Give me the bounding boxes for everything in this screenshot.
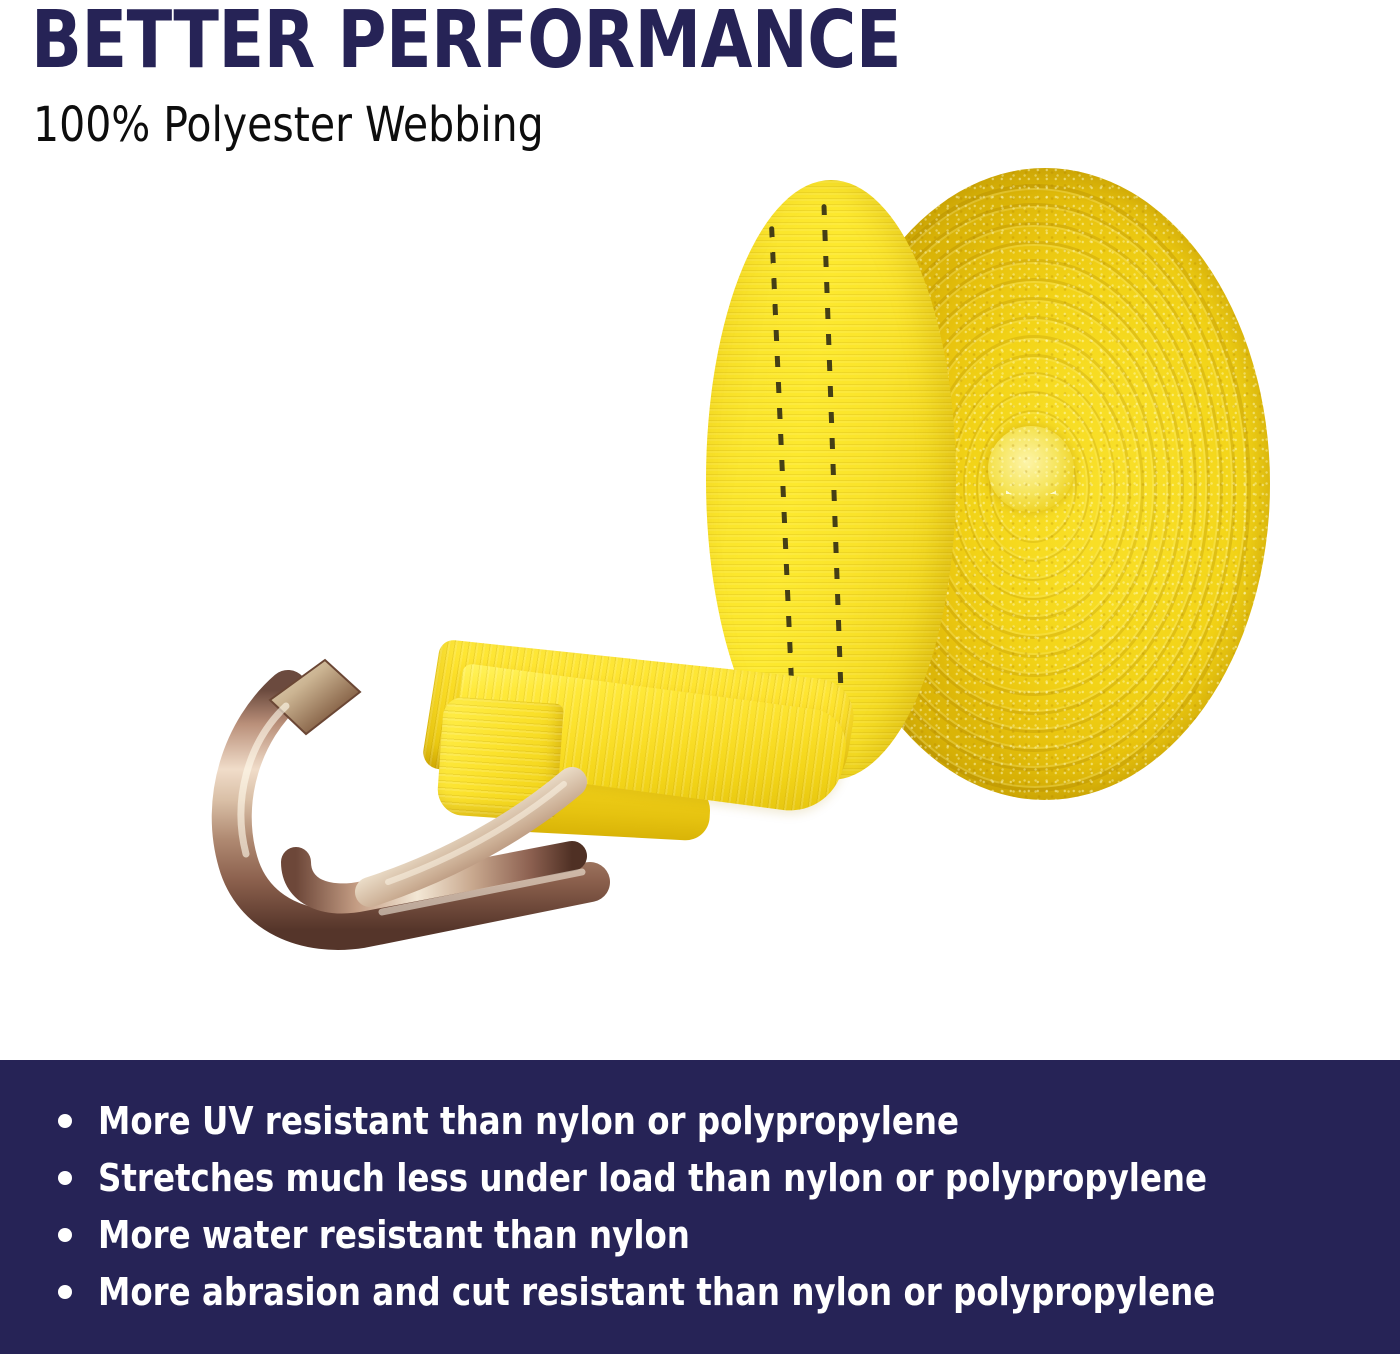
coil-ring (950, 372, 1116, 599)
bullet-dot-icon (58, 1171, 72, 1185)
wire-j-hook (120, 630, 660, 950)
coil-ring (989, 429, 1077, 543)
list-item: More abrasion and cut resistant than nyl… (58, 1269, 1274, 1315)
coil-ring (924, 335, 1145, 639)
bullet-dot-icon (58, 1285, 72, 1299)
bullet-dot-icon (58, 1114, 72, 1128)
coil-ring (937, 354, 1132, 621)
list-item: More water resistant than nylon (58, 1212, 721, 1258)
page-subtitle: 100% Polyester Webbing (33, 96, 544, 154)
list-item-label: More UV resistant than nylon or polyprop… (98, 1098, 959, 1144)
header: BETTER PERFORMANCE 100% Polyester Webbin… (0, 0, 1400, 170)
list-item-label: Stretches much less under load than nylo… (98, 1155, 1207, 1201)
roll-hub (988, 426, 1074, 512)
bullet-dot-icon (58, 1228, 72, 1242)
coil-ring (963, 391, 1103, 580)
page-title: BETTER PERFORMANCE (31, 0, 901, 82)
coil-ring (976, 410, 1090, 562)
list-item: More UV resistant than nylon or polyprop… (58, 1098, 1004, 1144)
list-item-label: More abrasion and cut resistant than nyl… (98, 1269, 1215, 1315)
infographic-page: BETTER PERFORMANCE 100% Polyester Webbin… (0, 0, 1400, 1354)
feature-list: More UV resistant than nylon or polyprop… (0, 1060, 1400, 1354)
product-photo (0, 160, 1400, 1060)
list-item: Stretches much less under load than nylo… (58, 1155, 1265, 1201)
list-item-label: More water resistant than nylon (98, 1212, 690, 1258)
j-hook-icon (120, 630, 660, 950)
features-panel: More UV resistant than nylon or polyprop… (0, 1060, 1400, 1354)
